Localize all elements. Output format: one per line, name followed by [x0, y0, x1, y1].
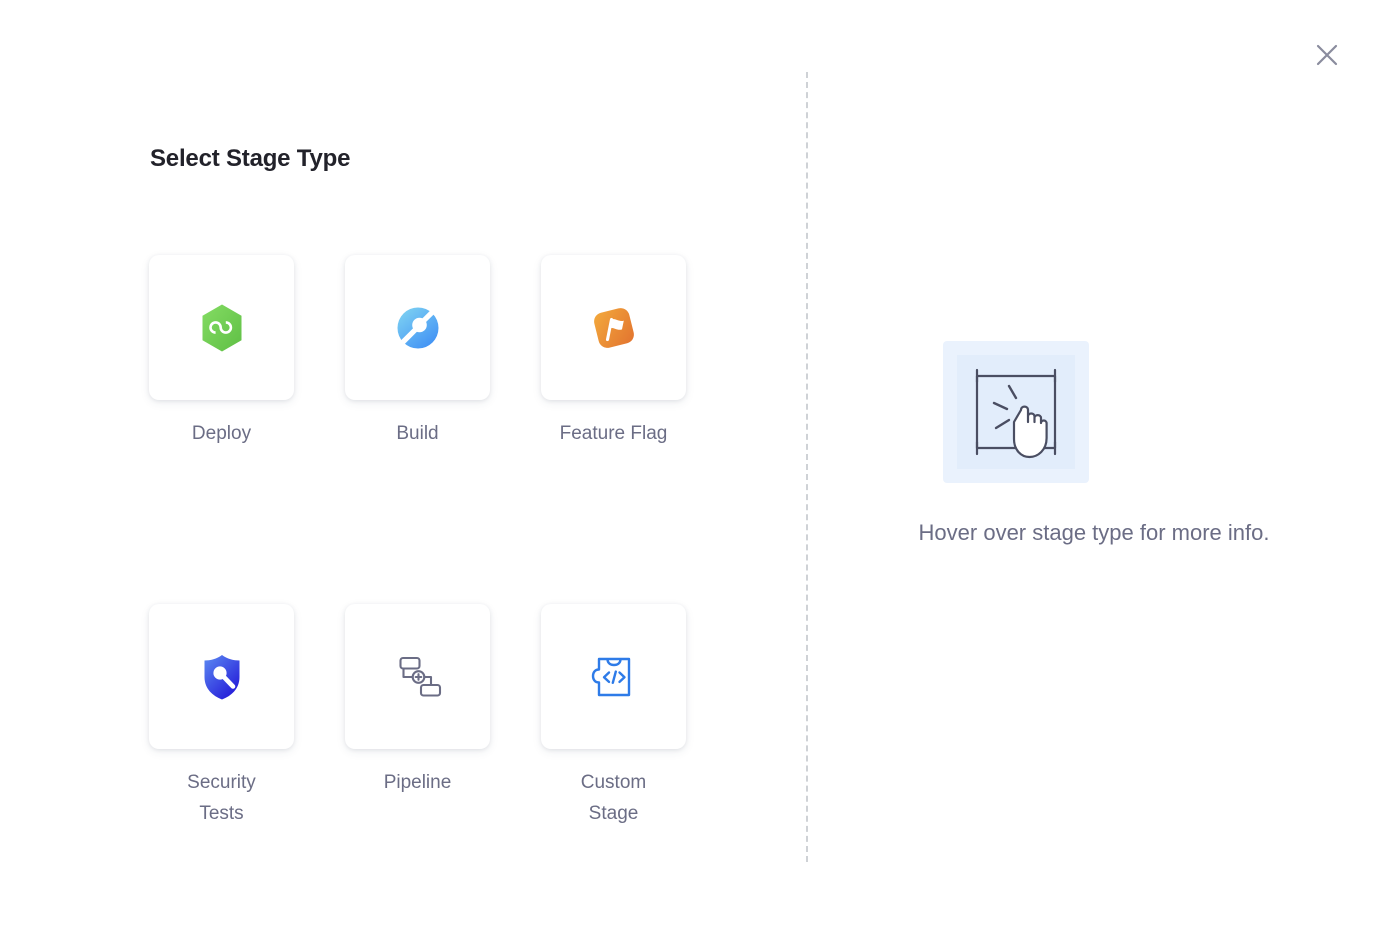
feature-flag-icon [589, 303, 639, 353]
stage-type-picker-panel: Select Stage Type [0, 0, 806, 950]
stage-card-pipeline[interactable] [345, 604, 490, 749]
stage-type-label: Feature Flag [556, 418, 672, 449]
stage-card-deploy[interactable] [149, 255, 294, 400]
deploy-hexagon-infinity-icon [199, 303, 245, 353]
build-magnifier-circle-icon [394, 304, 442, 352]
stage-type-option-custom-stage[interactable]: Custom Stage [541, 604, 686, 829]
stage-type-option-feature-flag[interactable]: Feature Flag [541, 255, 686, 449]
security-shield-magnifier-icon [200, 652, 244, 702]
stage-type-label: Pipeline [360, 767, 476, 798]
pipeline-nodes-icon [392, 653, 444, 701]
stage-type-option-build[interactable]: Build [345, 255, 490, 449]
stage-card-feature-flag[interactable] [541, 255, 686, 400]
hand-click-square-illustration [943, 341, 1089, 483]
stage-type-label: Security Tests [164, 767, 280, 829]
stage-type-grid: Deploy [149, 255, 686, 829]
page-title: Select Stage Type [150, 145, 350, 173]
stage-type-label: Build [360, 418, 476, 449]
custom-stage-code-puzzle-icon [590, 654, 638, 700]
stage-type-option-deploy[interactable]: Deploy [149, 255, 294, 449]
stage-card-security-tests[interactable] [149, 604, 294, 749]
select-stage-type-dialog: Select Stage Type [0, 0, 1382, 950]
stage-card-build[interactable] [345, 255, 490, 400]
hand-click-glyph [964, 360, 1068, 464]
stage-card-custom-stage[interactable] [541, 604, 686, 749]
stage-type-option-security-tests[interactable]: Security Tests [149, 604, 294, 829]
stage-info-panel: Hover over stage type for more info. [806, 0, 1382, 950]
stage-type-label: Custom Stage [556, 767, 672, 829]
stage-type-option-pipeline[interactable]: Pipeline [345, 604, 490, 829]
stage-type-label: Deploy [164, 418, 280, 449]
hover-hint-text: Hover over stage type for more info. [834, 514, 1354, 551]
